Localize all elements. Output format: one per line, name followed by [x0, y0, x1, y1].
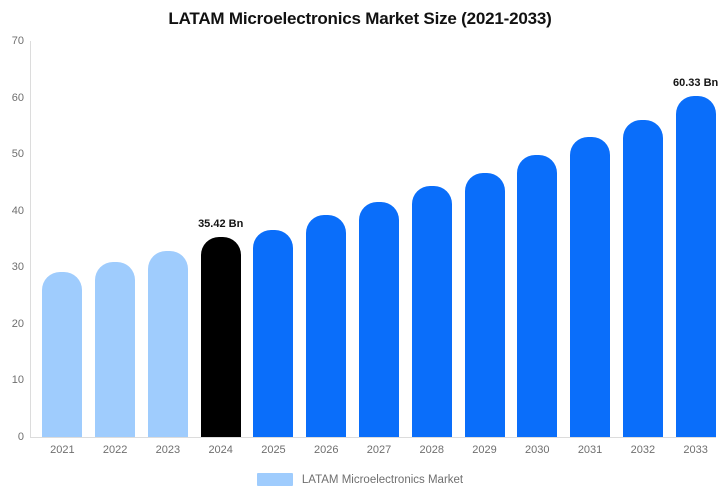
plot-area [30, 41, 716, 437]
y-axis-tick-70: 70 [2, 35, 24, 47]
bar-2022[interactable] [95, 262, 135, 437]
y-axis-tick-50: 50 [2, 148, 24, 160]
x-axis-tick-2027: 2027 [357, 444, 401, 456]
bar-2024[interactable] [201, 237, 241, 437]
bar-value-label-2024: 35.42 Bn [176, 218, 266, 230]
chart-legend: LATAM Microelectronics Market [0, 473, 720, 486]
bar-2030[interactable] [517, 155, 557, 437]
x-axis-tick-2033: 2033 [674, 444, 718, 456]
bar-chart: LATAM Microelectronics Market Size (2021… [0, 0, 720, 500]
x-axis-tick-2028: 2028 [410, 444, 454, 456]
x-axis-tick-2030: 2030 [515, 444, 559, 456]
bar-2026[interactable] [306, 215, 346, 437]
x-axis-tick-2031: 2031 [568, 444, 612, 456]
x-axis-tick-2022: 2022 [93, 444, 137, 456]
bar-value-label-2033: 60.33 Bn [651, 77, 720, 89]
bar-2027[interactable] [359, 202, 399, 437]
bar-2028[interactable] [412, 186, 452, 437]
y-axis-tick-0: 0 [2, 431, 24, 443]
y-axis-tick-20: 20 [2, 318, 24, 330]
y-axis-tick-40: 40 [2, 205, 24, 217]
x-axis-tick-2021: 2021 [40, 444, 84, 456]
y-axis-tick-60: 60 [2, 92, 24, 104]
bar-2025[interactable] [253, 230, 293, 437]
x-axis-tick-2024: 2024 [199, 444, 243, 456]
legend-swatch-icon [257, 473, 293, 486]
bar-2023[interactable] [148, 251, 188, 437]
y-axis-tick-10: 10 [2, 374, 24, 386]
bar-2031[interactable] [570, 137, 610, 437]
x-axis-tick-2029: 2029 [463, 444, 507, 456]
bar-2032[interactable] [623, 120, 663, 437]
x-axis-tick-2026: 2026 [304, 444, 348, 456]
y-axis-tick-30: 30 [2, 261, 24, 273]
bar-2033[interactable] [676, 96, 716, 437]
x-axis-tick-2023: 2023 [146, 444, 190, 456]
legend-label: LATAM Microelectronics Market [302, 474, 463, 486]
x-axis-tick-2032: 2032 [621, 444, 665, 456]
x-axis-tick-2025: 2025 [251, 444, 295, 456]
bar-2029[interactable] [465, 173, 505, 437]
bar-2021[interactable] [42, 272, 82, 437]
